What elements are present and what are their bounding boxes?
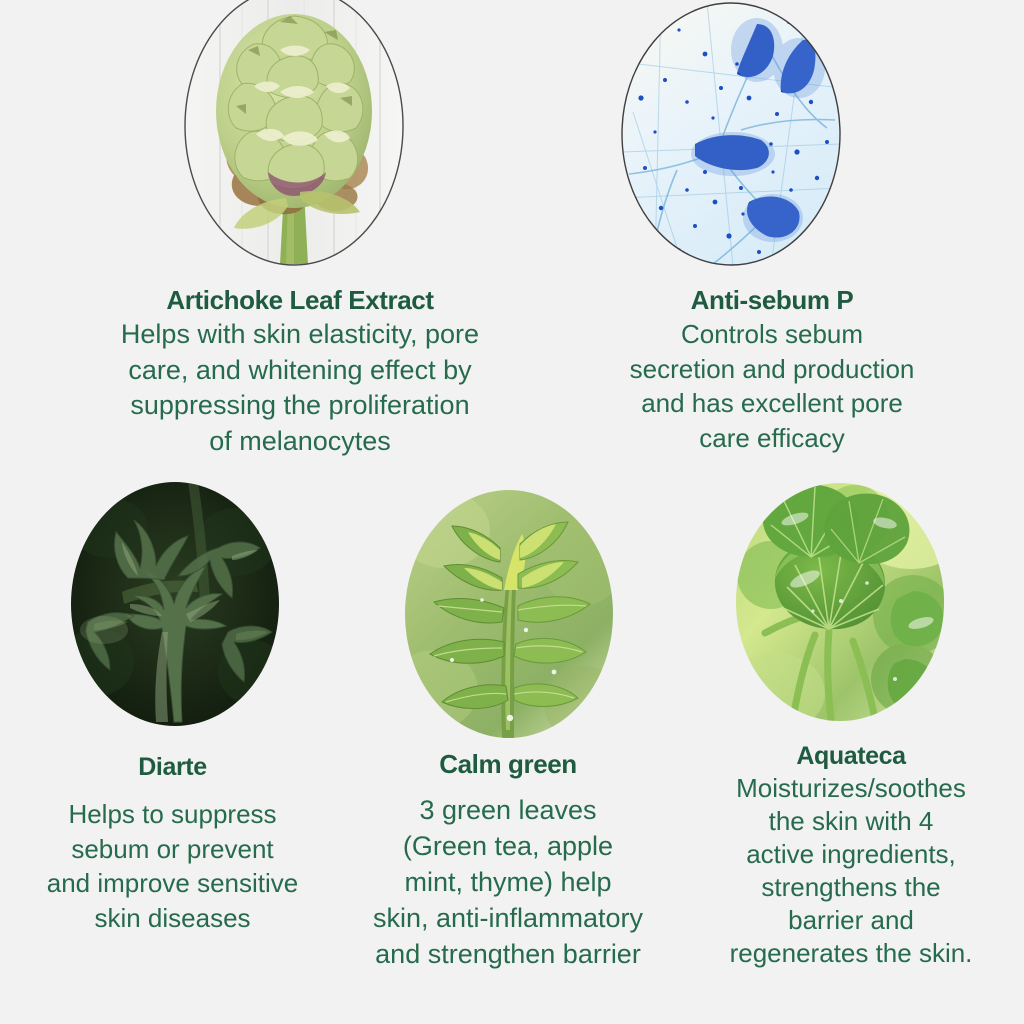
mugwort-photo [70,482,280,727]
card-title-aquateca: Aquateca [678,742,1024,770]
card-anti-sebum: Anti-sebum P Controls sebum secretion an… [552,286,992,455]
card-title-diarte: Diarte [0,753,345,781]
anti-sebum-microscopy-photo [621,2,841,266]
card-title-anti-sebum: Anti-sebum P [552,286,992,315]
card-diarte: Diarte Helps to suppress sebum or preven… [0,753,345,935]
card-description-calm-green: 3 green leaves (Green tea, apple mint, t… [327,793,689,973]
card-aquateca: Aquateca Moisturizes/soothes the skin wi… [678,742,1024,970]
card-title-calm-green: Calm green [327,750,689,779]
ingredient-grid: Artichoke Leaf Extract Helps with skin e… [0,0,1024,1024]
card-description-diarte: Helps to suppress sebum or prevent and i… [0,797,345,935]
card-title-artichoke: Artichoke Leaf Extract [40,286,560,315]
card-description-anti-sebum: Controls sebum secretion and production … [552,317,992,455]
card-description-aquateca: Moisturizes/soothes the skin with 4 acti… [678,772,1024,970]
artichoke-photo [184,0,404,266]
centella-photo [735,483,945,721]
card-artichoke: Artichoke Leaf Extract Helps with skin e… [40,286,560,460]
card-calm-green: Calm green 3 green leaves (Green tea, ap… [327,750,689,973]
card-description-artichoke: Helps with skin elasticity, pore care, a… [40,317,560,460]
green-tea-shoot-photo [404,490,614,738]
